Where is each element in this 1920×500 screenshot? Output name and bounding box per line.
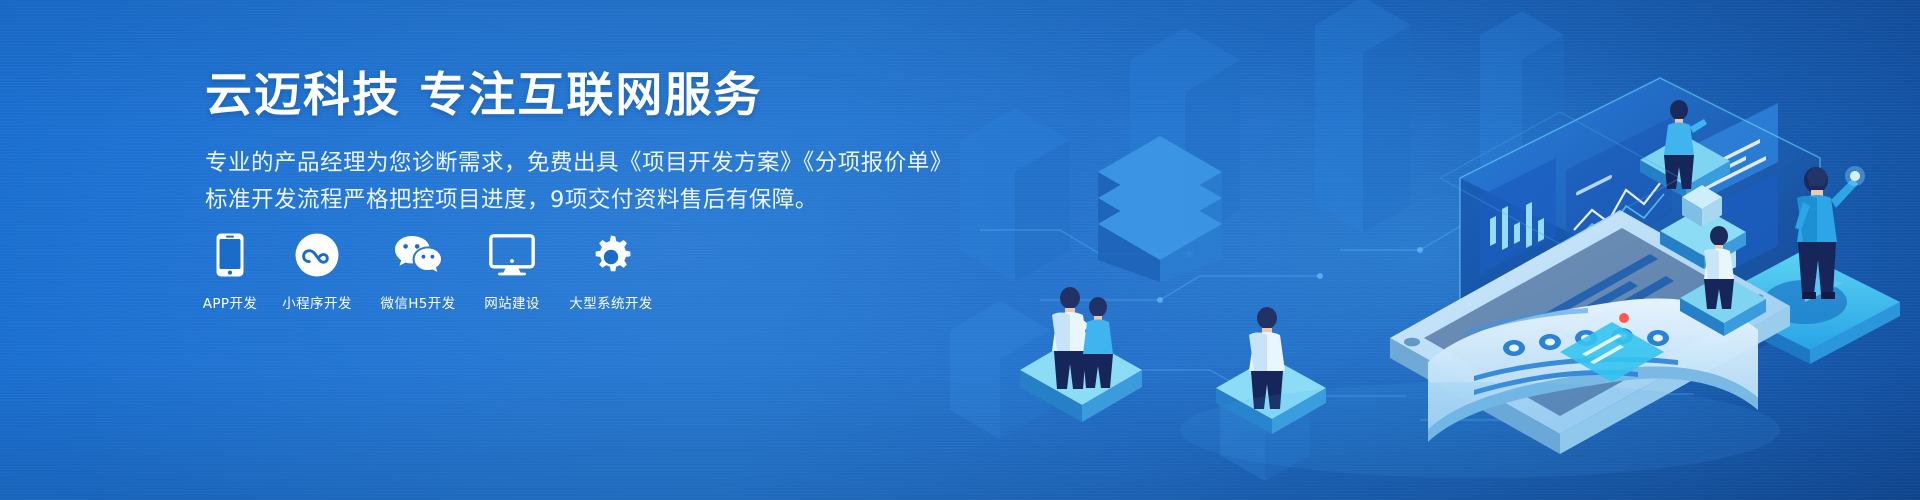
service-item-wechat-h5[interactable]: 微信H5开发 [379,232,457,312]
banner-subtitle-line-2: 标准开发流程严格把控项目进度，9项交付资料售后有保障。 [205,182,905,218]
service-label-mini-program: 小程序开发 [282,292,352,312]
hero-banner: 云迈科技 专注互联网服务 专业的产品经理为您诊断需求，免费出具《项目开发方案》《… [0,0,1920,500]
banner-subtitle-group: 专业的产品经理为您诊断需求，免费出具《项目开发方案》《分项报价单》 标准开发流程… [205,145,905,218]
illustration-isometric-data-dashboard [920,0,1920,500]
page-title: 云迈科技 专注互联网服务 [205,68,905,123]
mobile-phone-icon [216,232,244,278]
service-label-website: 网站建设 [484,292,540,312]
banner-content: 云迈科技 专注互联网服务 专业的产品经理为您诊断需求，免费出具《项目开发方案》《… [205,68,905,218]
banner-subtitle-line-1: 专业的产品经理为您诊断需求，免费出具《项目开发方案》《分项报价单》 [205,145,905,181]
service-item-large-system[interactable]: 大型系统开发 [567,232,655,312]
service-list: APP开发 小程序开发 微信 [205,232,655,312]
service-item-app[interactable]: APP开发 [205,232,255,312]
mini-program-icon [295,232,339,278]
service-item-mini-program[interactable]: 小程序开发 [279,232,355,312]
wechat-icon [393,232,443,278]
monitor-icon [489,232,535,278]
service-label-app: APP开发 [203,292,258,312]
gear-icon [589,232,633,278]
service-label-large-system: 大型系统开发 [569,292,652,312]
service-item-website[interactable]: 网站建设 [481,232,543,312]
service-label-wechat-h5: 微信H5开发 [380,292,455,312]
